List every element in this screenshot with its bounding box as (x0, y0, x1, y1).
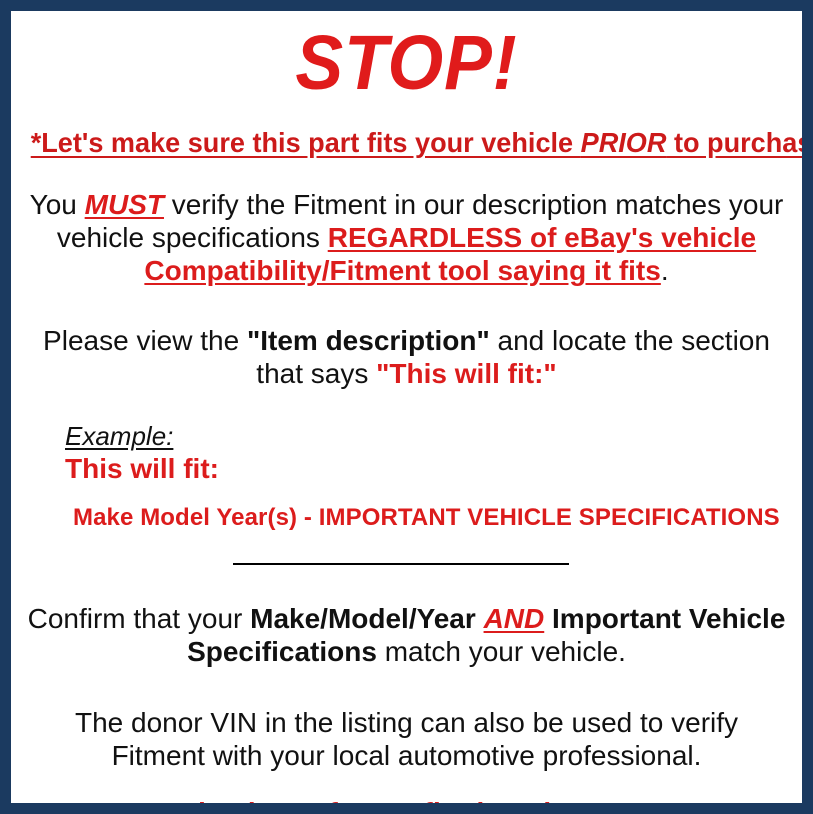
page-title: STOP! (52, 25, 762, 102)
view-seg-1: Please view the (43, 325, 247, 356)
tagline: *Let's make sure this part fits your veh… (31, 128, 783, 158)
item-description-paragraph: Please view the "Item description" and l… (25, 324, 788, 390)
must-seg-1: You (30, 189, 85, 220)
example-label: Example: (65, 422, 173, 451)
example-fit-heading: This will fit: (65, 453, 788, 484)
divider-wrap (25, 557, 788, 571)
donor-vin-paragraph: The donor VIN in the listing can also be… (25, 706, 788, 772)
example-spec-line: Make Model Year(s) - IMPORTANT VEHICLE S… (65, 505, 788, 531)
and-emphasis: AND (484, 603, 545, 634)
make-model-year-emphasis: Make/Model/Year (250, 603, 483, 634)
thank-you-line: Thank you for confirming Fitment! (25, 798, 788, 814)
confirm-seg-1: Confirm that your (28, 603, 251, 634)
confirm-seg-2: match your vehicle. (377, 636, 626, 667)
confirm-paragraph: Confirm that your Make/Model/Year AND Im… (25, 602, 788, 668)
this-will-fit-emphasis: "This will fit:" (376, 358, 557, 389)
horizontal-divider (233, 563, 569, 565)
must-emphasis: MUST (85, 189, 164, 220)
example-block: Example: This will fit: Make Model Year(… (25, 422, 788, 531)
tagline-emphasis-prior: PRIOR (581, 127, 667, 158)
fitment-stop-notice: STOP! *Let's make sure this part fits yo… (0, 0, 813, 814)
notice-inner: STOP! *Let's make sure this part fits yo… (11, 25, 802, 814)
must-seg-3: . (661, 255, 669, 286)
item-description-emphasis: "Item description" (247, 325, 490, 356)
must-verify-paragraph: You MUST verify the Fitment in our descr… (25, 188, 788, 287)
tagline-suffix: to purchasing* (666, 127, 813, 158)
tagline-prefix: *Let's make sure this part fits your veh… (31, 127, 581, 158)
